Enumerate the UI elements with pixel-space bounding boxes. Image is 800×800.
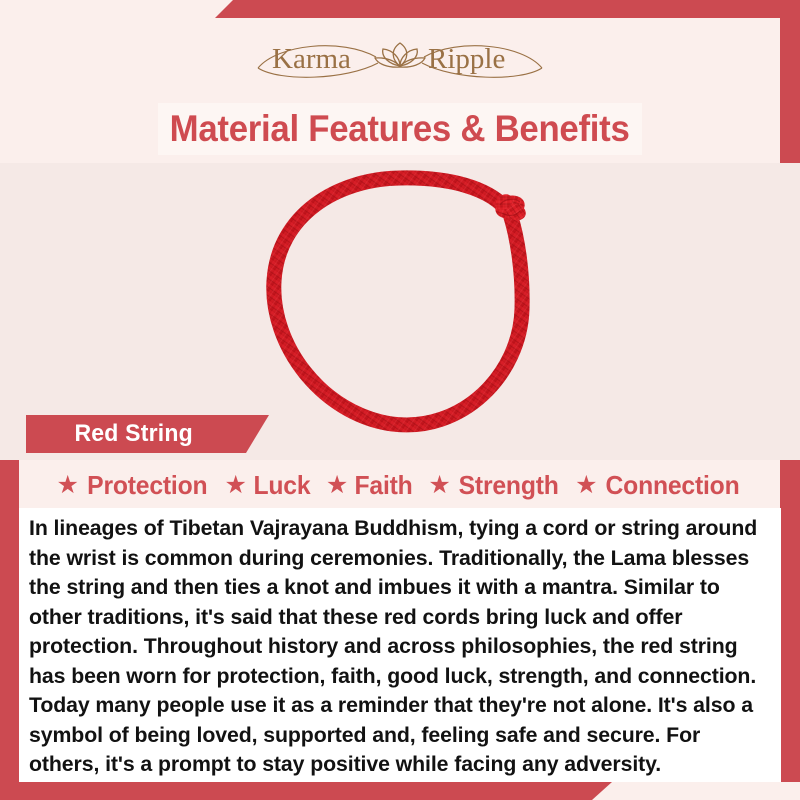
star-icon: ★: [57, 473, 79, 498]
description-text: In lineages of Tibetan Vajrayana Buddhis…: [29, 514, 760, 780]
material-label-text: Red String: [74, 420, 192, 448]
benefit-label: Luck: [253, 470, 310, 501]
title-banner: Material Features & Benefits: [158, 103, 642, 155]
decorative-bottom-band: [0, 782, 612, 800]
benefits-row: ★ Protection ★ Luck ★ Faith ★ Strength ★…: [19, 466, 781, 504]
benefit-label: Connection: [606, 470, 740, 501]
star-icon: ★: [575, 473, 597, 498]
benefit-label: Protection: [87, 470, 207, 501]
star-icon: ★: [225, 473, 247, 498]
benefit-label: Strength: [458, 470, 558, 501]
page-title: Material Features & Benefits: [170, 108, 630, 150]
decorative-top-band: [215, 0, 800, 18]
material-label-banner: Red String: [26, 415, 269, 453]
benefit-item-protection: ★ Protection: [57, 470, 211, 501]
red-string-bracelet-image: [252, 169, 552, 454]
benefit-item-luck: ★ Luck: [225, 470, 312, 501]
brand-logo: Karma Ripple: [0, 28, 800, 90]
benefit-item-faith: ★ Faith: [326, 470, 415, 501]
benefit-item-strength: ★ Strength: [428, 470, 561, 501]
benefit-label: Faith: [355, 470, 413, 501]
star-icon: ★: [428, 473, 450, 498]
description-panel: In lineages of Tibetan Vajrayana Buddhis…: [19, 508, 781, 782]
brand-logo-svg: Karma Ripple: [250, 30, 550, 88]
benefit-item-connection: ★ Connection: [575, 470, 743, 501]
infographic-page: Karma Ripple Material Features & Benefit…: [0, 0, 800, 800]
lotus-flower-icon: [375, 43, 425, 67]
brand-name-left-text: Karma: [272, 43, 351, 75]
brand-name-right-text: Ripple: [428, 43, 505, 75]
bracelet-cord-shading: [274, 178, 522, 425]
star-icon: ★: [326, 473, 348, 498]
